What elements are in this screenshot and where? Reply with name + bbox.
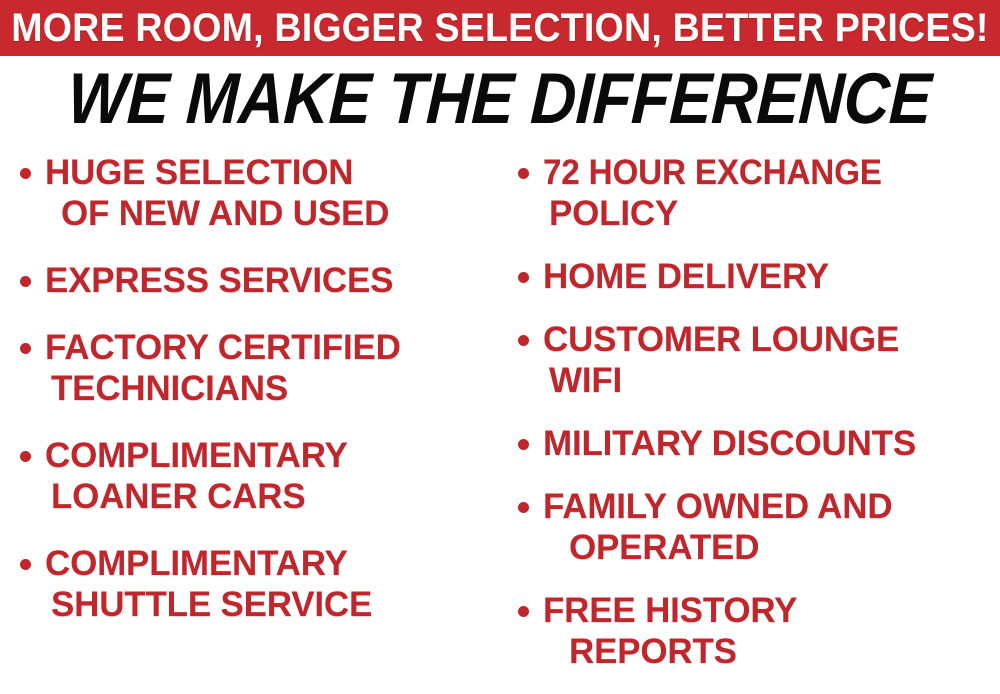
bullet-dot-icon [20, 343, 31, 354]
list-item-text: COMPLIMENTARY LOANER CARS [45, 435, 492, 517]
list-item: 72 HOUR EXCHANGE POLICY [518, 152, 996, 234]
list-item-line1: HUGE SELECTION [45, 153, 353, 192]
headline-area: WE MAKE THE DIFFERENCE [0, 60, 1000, 138]
list-item-line1: MILITARY DISCOUNTS [543, 424, 916, 463]
page-title: WE MAKE THE DIFFERENCE [67, 63, 934, 135]
list-item-text: COMPLIMENTARY SHUTTLE SERVICE [45, 543, 492, 625]
bullet-dot-icon [518, 502, 529, 513]
benefits-columns: HUGE SELECTION OF NEW AND USED EXPRESS S… [0, 152, 1000, 694]
list-item: COMPLIMENTARY SHUTTLE SERVICE [20, 543, 492, 625]
bullet-dot-icon [20, 559, 31, 570]
list-item: COMPLIMENTARY LOANER CARS [20, 435, 492, 517]
list-item-line1: FREE HISTORY [543, 591, 797, 630]
list-item-text: CUSTOMER LOUNGE WIFI [543, 319, 996, 401]
list-item-line1: EXPRESS SERVICES [45, 261, 393, 300]
list-item-text: FAMILY OWNED AND OPERATED [543, 486, 996, 568]
bullet-dot-icon [518, 606, 529, 617]
list-item-line1: CUSTOMER LOUNGE [543, 320, 899, 359]
list-item-text: FACTORY CERTIFIED TECHNICIANS [45, 327, 492, 409]
bullet-dot-icon [20, 168, 31, 179]
benefits-column-left: HUGE SELECTION OF NEW AND USED EXPRESS S… [0, 152, 500, 651]
list-item-line2: REPORTS [543, 631, 996, 672]
bullet-dot-icon [518, 168, 529, 179]
list-item-line2: SHUTTLE SERVICE [45, 584, 492, 625]
bullet-dot-icon [518, 439, 529, 450]
list-item-text: HOME DELIVERY [543, 256, 996, 297]
bullet-dot-icon [20, 276, 31, 287]
list-item-text: HUGE SELECTION OF NEW AND USED [45, 152, 492, 234]
top-banner: MORE ROOM, BIGGER SELECTION, BETTER PRIC… [0, 0, 1000, 56]
promotional-poster: MORE ROOM, BIGGER SELECTION, BETTER PRIC… [0, 0, 1000, 694]
list-item-line1: 72 HOUR EXCHANGE [543, 152, 882, 193]
list-item: EXPRESS SERVICES [20, 260, 492, 301]
benefits-column-right: 72 HOUR EXCHANGE POLICY HOME DELIVERY CU… [500, 152, 1000, 694]
bullet-dot-icon [518, 272, 529, 283]
list-item-line2: OPERATED [543, 527, 996, 568]
list-item: FREE HISTORY REPORTS [518, 590, 996, 672]
list-item-line2: LOANER CARS [45, 476, 492, 517]
bullet-dot-icon [20, 451, 31, 462]
list-item: FAMILY OWNED AND OPERATED [518, 486, 996, 568]
list-item: FACTORY CERTIFIED TECHNICIANS [20, 327, 492, 409]
list-item: HUGE SELECTION OF NEW AND USED [20, 152, 492, 234]
list-item-line2: TECHNICIANS [45, 368, 492, 409]
list-item-line2: POLICY [543, 193, 996, 234]
list-item-text: FREE HISTORY REPORTS [543, 590, 996, 672]
list-item-text: EXPRESS SERVICES [45, 260, 492, 301]
top-banner-text: MORE ROOM, BIGGER SELECTION, BETTER PRIC… [11, 8, 988, 48]
list-item: CUSTOMER LOUNGE WIFI [518, 319, 996, 401]
list-item-line1: COMPLIMENTARY [45, 436, 348, 475]
list-item-line1: FAMILY OWNED AND [543, 487, 892, 526]
list-item-line1: HOME DELIVERY [543, 257, 829, 296]
list-item: MILITARY DISCOUNTS [518, 423, 996, 464]
list-item-text: MILITARY DISCOUNTS [543, 423, 996, 464]
list-item-text: 72 HOUR EXCHANGE POLICY [543, 152, 996, 234]
bullet-dot-icon [518, 335, 529, 346]
list-item: HOME DELIVERY [518, 256, 996, 297]
list-item-line1: FACTORY CERTIFIED [45, 328, 401, 367]
list-item-line2: OF NEW AND USED [45, 193, 492, 234]
list-item-line2: WIFI [543, 360, 996, 401]
list-item-line1: COMPLIMENTARY [45, 544, 348, 583]
